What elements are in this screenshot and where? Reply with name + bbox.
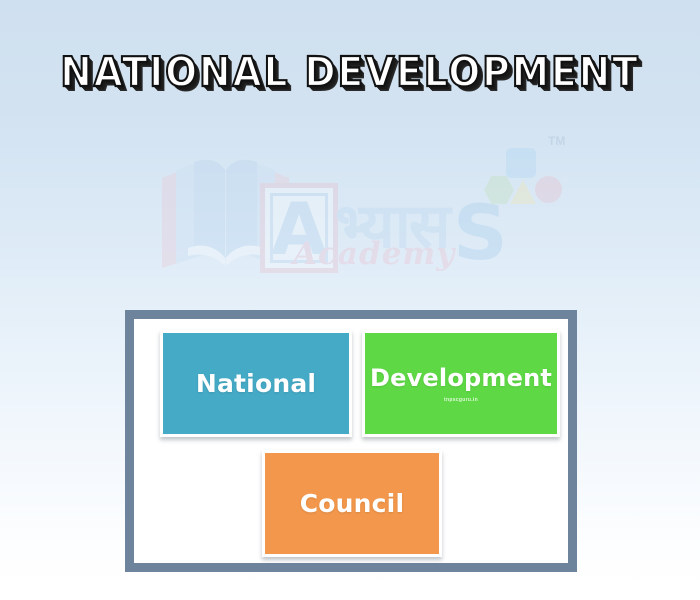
- rounded-square-icon: [506, 148, 536, 178]
- title-area: NATIONAL DEVELOPMENT: [0, 48, 700, 96]
- diagram-node-development: Development tnpscguru.in: [362, 330, 560, 437]
- diagram-frame: National Development tnpscguru.in Counci…: [125, 310, 577, 572]
- page-root: NATIONAL DEVELOPMENT A भ्यास S Academy T…: [0, 0, 700, 600]
- page-title: NATIONAL DEVELOPMENT: [60, 48, 639, 96]
- logo-academy-script: Academy: [293, 236, 455, 272]
- circle-icon: [535, 176, 562, 203]
- diagram-node-council: Council: [262, 450, 442, 557]
- trademark-symbol: TM: [548, 134, 565, 148]
- watermark-logo: A भ्यास S Academy TM: [150, 138, 570, 293]
- open-book-icon: [158, 156, 293, 271]
- logo-shape-cluster: [480, 138, 572, 210]
- diagram-canvas: National Development tnpscguru.in Counci…: [134, 319, 568, 563]
- logo-letter-frame: [260, 183, 338, 273]
- node-label-development: Development: [370, 364, 552, 392]
- hexagon-icon: [484, 176, 514, 204]
- logo-letter-inner-frame: [270, 193, 328, 263]
- logo-devanagari-text: भ्यास: [335, 182, 449, 266]
- node-label-council: Council: [300, 489, 404, 518]
- diagram-node-national: National: [160, 330, 352, 437]
- triangle-icon: [510, 180, 536, 204]
- node-label-national: National: [196, 369, 316, 398]
- logo-letter-s: S: [453, 188, 508, 277]
- logo-letter-a: A: [262, 186, 336, 272]
- node-subtext-development: tnpscguru.in: [444, 397, 478, 403]
